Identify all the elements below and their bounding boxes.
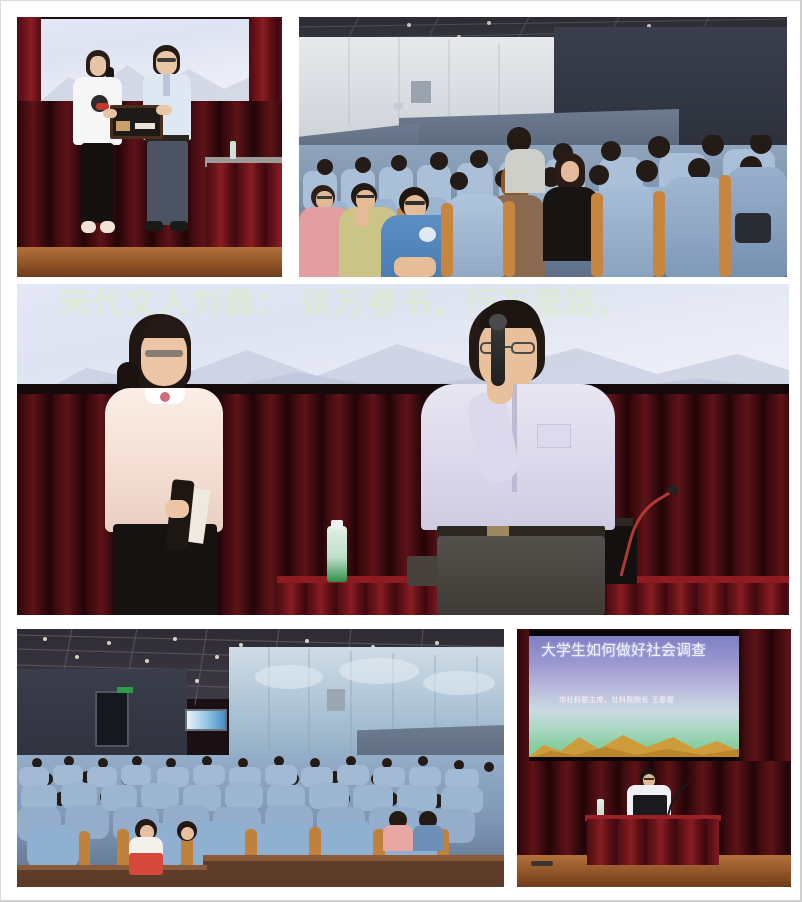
photo-speaker-with-microphone: 宋代文人刘彝： 读万卷书，行万里路。: [17, 284, 789, 615]
slide-title: 大学生如何做好社会调查: [541, 639, 706, 660]
slide-subtitle: 市社科联主席、社科院院长 王思堤: [559, 695, 674, 705]
photo-audience-front-rows: [299, 17, 787, 277]
photo-collage: 宋代文人刘彝： 读万卷书，行万里路。: [0, 0, 802, 902]
photo-award-ceremony: [17, 17, 282, 277]
photo-lecture-hall-wide: [17, 629, 504, 887]
photo-stage-presentation: 大学生如何做好社会调查 市社科联主席、社科院院长 王思堤: [517, 629, 791, 887]
